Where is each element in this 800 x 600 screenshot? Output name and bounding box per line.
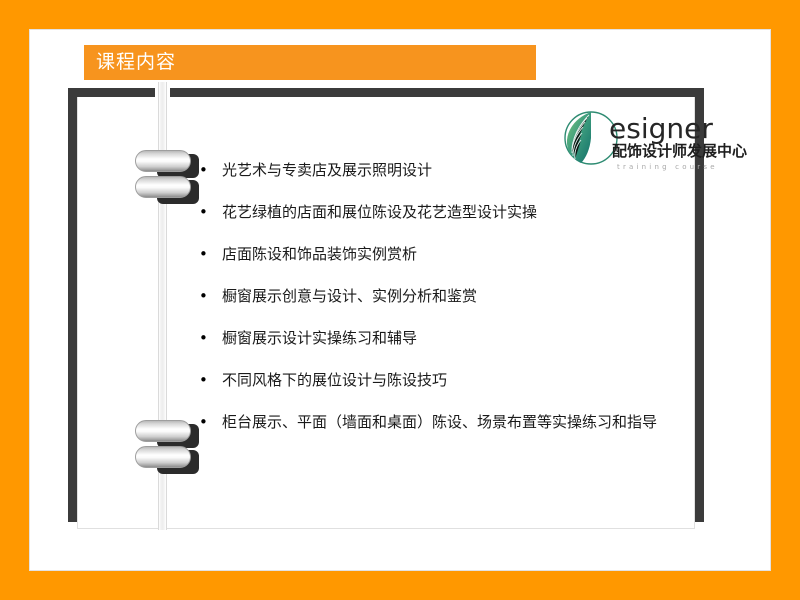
- brand-logo: esigner 配饰设计师发展中心 training course: [561, 107, 721, 179]
- panel-top-inner-edge: [78, 97, 694, 99]
- rail-slider-bottom: [131, 418, 203, 476]
- list-item-label: 橱窗展示设计实操练习和辅导: [222, 328, 417, 348]
- list-item-label: 不同风格下的展位设计与陈设技巧: [222, 370, 447, 390]
- page-title: 课程内容: [84, 53, 176, 72]
- bullet-marker-icon: •: [196, 286, 222, 306]
- panel-border-top-left: [68, 88, 155, 97]
- list-item-label: 柜台展示、平面（墙面和桌面）陈设、场景布置等实操练习和指导: [222, 412, 657, 432]
- logo-wordmark: esigner: [609, 115, 713, 143]
- list-item-label: 光艺术与专卖店及展示照明设计: [222, 160, 432, 180]
- bead-lower: [135, 176, 191, 198]
- bead-upper: [135, 420, 191, 442]
- bullet-marker-icon: •: [196, 160, 222, 180]
- bead-upper: [135, 150, 191, 172]
- bullet-marker-icon: •: [196, 202, 222, 222]
- logo-chinese-name: 配饰设计师发展中心: [612, 144, 747, 159]
- list-item: •橱窗展示创意与设计、实例分析和鉴赏: [196, 286, 696, 328]
- list-item-label: 花艺绿植的店面和展位陈设及花艺造型设计实操: [222, 202, 537, 222]
- list-item: •不同风格下的展位设计与陈设技巧: [196, 370, 696, 412]
- rail-slider-top: [131, 148, 203, 206]
- list-item-label: 橱窗展示创意与设计、实例分析和鉴赏: [222, 286, 477, 306]
- title-banner: 课程内容: [84, 45, 536, 80]
- list-item: •柜台展示、平面（墙面和桌面）陈设、场景布置等实操练习和指导: [196, 412, 696, 454]
- bullet-marker-icon: •: [196, 328, 222, 348]
- list-item: •花艺绿植的店面和展位陈设及花艺造型设计实操: [196, 202, 696, 244]
- bullet-marker-icon: •: [196, 244, 222, 264]
- bullet-marker-icon: •: [196, 370, 222, 390]
- panel-border-left: [68, 88, 77, 522]
- course-content-list: •光艺术与专卖店及展示照明设计•花艺绿植的店面和展位陈设及花艺造型设计实操•店面…: [196, 160, 696, 454]
- list-item-label: 店面陈设和饰品装饰实例赏析: [222, 244, 417, 264]
- panel-border-top-right: [170, 88, 704, 97]
- logo-tagline: training course: [617, 164, 718, 171]
- bullet-marker-icon: •: [196, 412, 222, 432]
- list-item: •店面陈设和饰品装饰实例赏析: [196, 244, 696, 286]
- list-item: •橱窗展示设计实操练习和辅导: [196, 328, 696, 370]
- bead-lower: [135, 446, 191, 468]
- slide-canvas: 课程内容 •光艺术与专卖店及展示照明设计•花艺绿植的店面和展位陈设及花艺造型设计…: [0, 0, 800, 600]
